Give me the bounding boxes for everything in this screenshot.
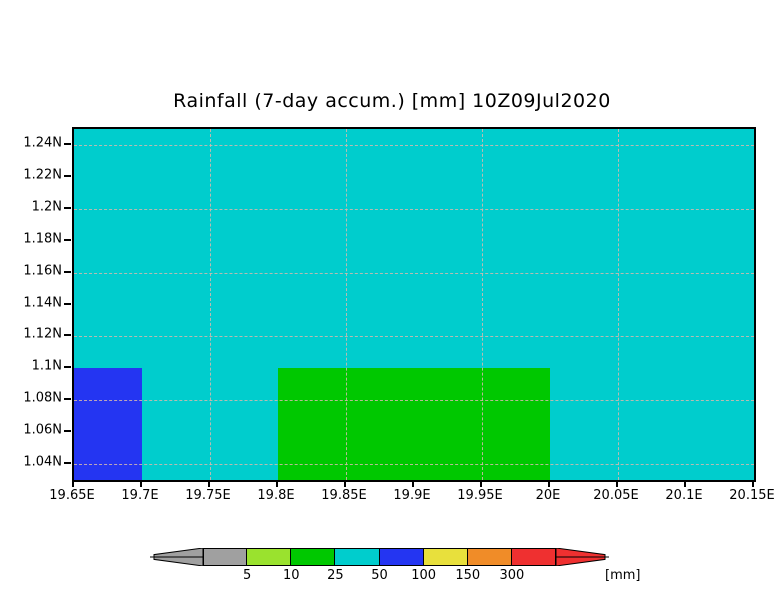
y-axis-tick	[64, 334, 71, 336]
gridline-horizontal	[74, 464, 754, 465]
y-axis-tick	[64, 143, 71, 145]
x-axis-label: 19.85E	[321, 488, 366, 503]
gridline-vertical	[210, 129, 211, 480]
x-axis-tick	[276, 480, 278, 487]
x-axis-label: 19.7E	[121, 488, 158, 503]
colorbar-tick-label: 25	[327, 568, 344, 583]
x-axis-tick	[344, 480, 346, 487]
y-axis-label: 1.14N	[2, 295, 62, 310]
x-axis-label: 20.15E	[729, 488, 774, 503]
colorbar-segment	[203, 548, 247, 566]
colorbar-segment	[424, 548, 468, 566]
y-axis-label: 1.22N	[2, 167, 62, 182]
gridline-vertical	[754, 129, 755, 480]
x-axis-tick	[752, 480, 754, 487]
y-axis-label: 1.06N	[2, 423, 62, 438]
y-axis-tick	[64, 271, 71, 273]
y-axis-label: 1.08N	[2, 391, 62, 406]
gridline-vertical	[618, 129, 619, 480]
y-axis-label: 1.12N	[2, 327, 62, 342]
y-axis-tick	[64, 430, 71, 432]
colorbar-legend: 5102550100150300 [mm]	[150, 546, 650, 588]
y-axis-tick	[64, 239, 71, 241]
colorbar-tick-label: 100	[411, 568, 436, 583]
y-axis-tick	[64, 303, 71, 305]
colorbar-left-arrow	[150, 548, 203, 566]
y-axis-label: 1.04N	[2, 455, 62, 470]
x-axis-tick	[208, 480, 210, 487]
gridline-horizontal	[74, 273, 754, 274]
x-axis-label: 19.9E	[393, 488, 430, 503]
gridline-horizontal	[74, 145, 754, 146]
x-axis-label: 19.8E	[257, 488, 294, 503]
rainfall-chart: Rainfall (7-day accum.) [mm] 10Z09Jul202…	[0, 0, 784, 612]
x-axis-label: 20.1E	[665, 488, 702, 503]
colorbar-segment	[247, 548, 291, 566]
colorbar-segment	[468, 548, 512, 566]
gridline-vertical	[482, 129, 483, 480]
y-axis-tick	[64, 398, 71, 400]
x-axis-tick	[548, 480, 550, 487]
colorbar-segment	[291, 548, 335, 566]
y-axis-tick	[64, 207, 71, 209]
x-axis-tick	[412, 480, 414, 487]
y-axis-label: 1.16N	[2, 263, 62, 278]
colorbar-segments	[203, 548, 556, 566]
x-axis-tick	[140, 480, 142, 487]
y-axis-label: 1.18N	[2, 231, 62, 246]
colorbar-tick-label: 10	[283, 568, 300, 583]
gridline-horizontal	[74, 400, 754, 401]
colorbar-unit-label: [mm]	[605, 568, 640, 583]
x-axis-label: 20E	[536, 488, 561, 503]
y-axis-tick	[64, 462, 71, 464]
colorbar-tick-label: 300	[499, 568, 524, 583]
gridline-horizontal	[74, 209, 754, 210]
y-axis-label: 1.24N	[2, 135, 62, 150]
y-axis-tick	[64, 366, 71, 368]
colorbar-segment	[512, 548, 556, 566]
colorbar-segment	[335, 548, 379, 566]
x-axis-label: 20.05E	[593, 488, 638, 503]
plot-inner	[74, 129, 754, 480]
x-axis-label: 19.75E	[185, 488, 230, 503]
gridline-vertical	[346, 129, 347, 480]
x-axis-tick	[480, 480, 482, 487]
plot-area	[72, 127, 756, 482]
gridline-horizontal	[74, 336, 754, 337]
colorbar-tick-label: 5	[243, 568, 251, 583]
colorbar-right-arrow	[556, 548, 609, 566]
y-axis-label: 1.1N	[2, 359, 62, 374]
x-axis-tick	[616, 480, 618, 487]
x-axis-label: 19.95E	[457, 488, 502, 503]
colorbar-tick-label: 50	[371, 568, 388, 583]
colorbar-tick-label: 150	[455, 568, 480, 583]
chart-title: Rainfall (7-day accum.) [mm] 10Z09Jul202…	[0, 90, 784, 112]
x-axis-tick	[72, 480, 74, 487]
colorbar-segment	[380, 548, 424, 566]
y-axis-label: 1.2N	[2, 199, 62, 214]
y-axis-tick	[64, 175, 71, 177]
x-axis-tick	[684, 480, 686, 487]
x-axis-label: 19.65E	[49, 488, 94, 503]
